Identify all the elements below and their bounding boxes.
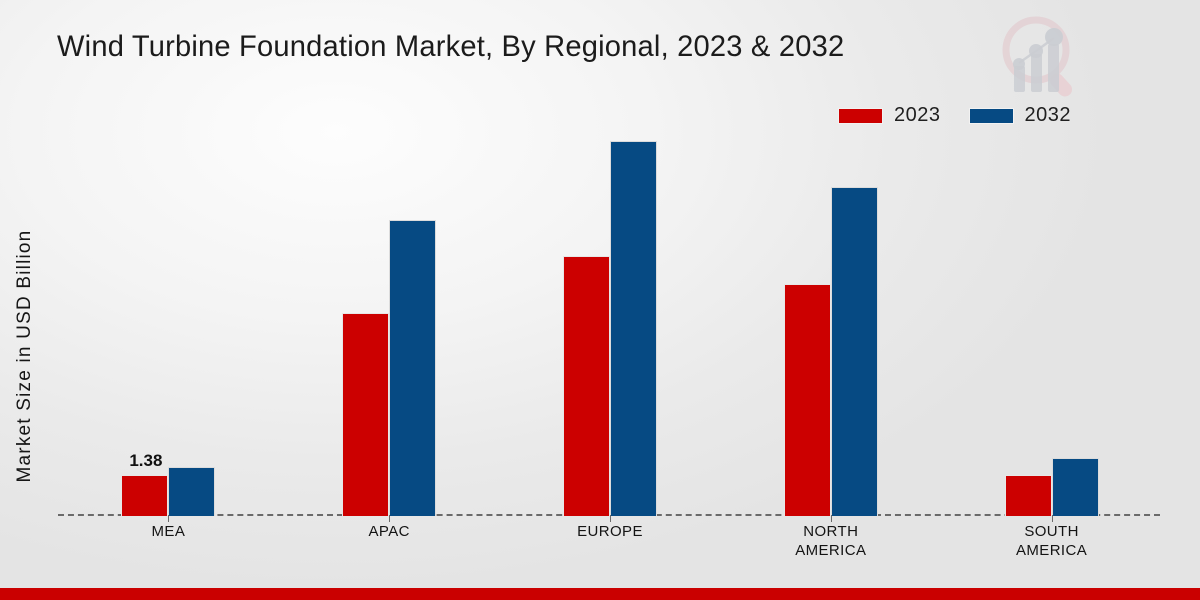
bar-group-europe bbox=[500, 120, 721, 516]
bar-group-south-america bbox=[941, 120, 1162, 516]
bar-apac-2032[interactable] bbox=[389, 220, 436, 516]
bar-mea-2023[interactable] bbox=[121, 475, 168, 516]
y-axis-title: Market Size in USD Billion bbox=[14, 191, 36, 521]
market-research-logo-watermark bbox=[988, 6, 1092, 106]
bar-north-america-2023[interactable] bbox=[784, 284, 831, 516]
bar-mea-2032[interactable] bbox=[168, 467, 215, 516]
chart-page: Wind Turbine Foundation Market, By Regio… bbox=[0, 0, 1200, 600]
value-label-mea: 1.38 bbox=[129, 451, 162, 471]
x-axis-label-south-america: SOUTHAMERICA bbox=[941, 522, 1162, 582]
chart-title: Wind Turbine Foundation Market, By Regio… bbox=[57, 30, 844, 64]
bar-apac-2023[interactable] bbox=[342, 313, 389, 516]
bar-south-america-2032[interactable] bbox=[1052, 458, 1099, 516]
bar-south-america-2023[interactable] bbox=[1005, 475, 1052, 516]
plot-area: 1.38 bbox=[58, 120, 1162, 516]
x-axis-label-mea: MEA bbox=[58, 522, 279, 582]
x-axis-labels: MEAAPACEUROPENORTHAMERICASOUTHAMERICA bbox=[58, 522, 1162, 582]
x-axis-label-apac: APAC bbox=[279, 522, 500, 582]
bar-europe-2023[interactable] bbox=[563, 256, 610, 516]
x-tick-mea bbox=[168, 515, 169, 522]
x-tick-europe bbox=[610, 515, 611, 522]
bar-europe-2032[interactable] bbox=[610, 141, 657, 516]
x-tick-north-america bbox=[831, 515, 832, 522]
x-axis-label-north-america: NORTHAMERICA bbox=[720, 522, 941, 582]
x-tick-apac bbox=[389, 515, 390, 522]
bar-group-mea: 1.38 bbox=[58, 120, 279, 516]
bottom-accent-bar bbox=[0, 588, 1200, 600]
bar-group-north-america bbox=[720, 120, 941, 516]
bar-group-apac bbox=[279, 120, 500, 516]
bar-north-america-2032[interactable] bbox=[831, 187, 878, 516]
x-tick-south-america bbox=[1052, 515, 1053, 522]
x-axis-label-europe: EUROPE bbox=[500, 522, 721, 582]
bar-groups: 1.38 bbox=[58, 120, 1162, 516]
